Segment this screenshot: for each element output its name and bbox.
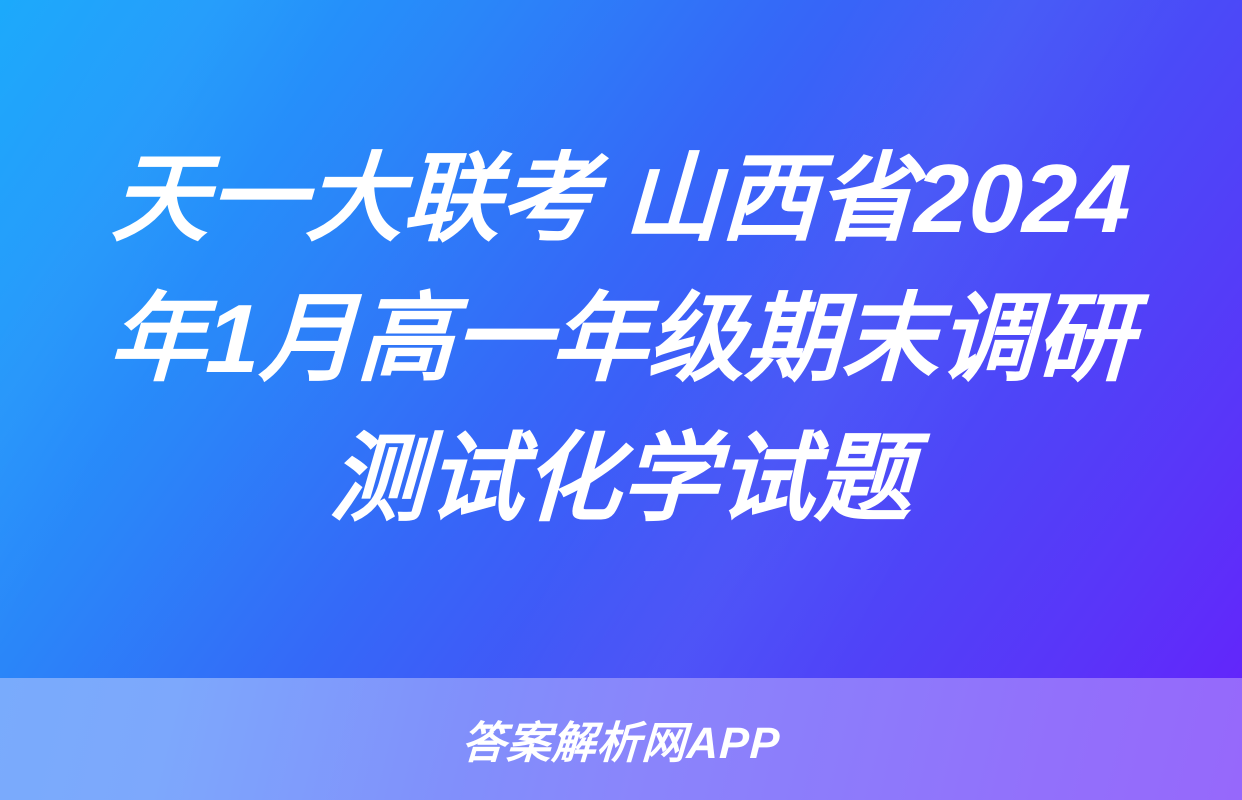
page-title-line-2: 年1月高一年级期末调研 [107,269,1136,409]
page-title: 天一大联考 山西省2024 年1月高一年级期末调研 测试化学试题 [0,0,1242,678]
footer-brand-band: 答案解析网APP [0,678,1242,800]
footer-brand-label: 答案解析网APP [460,707,782,771]
exam-paper-cover-poster: 天一大联考 山西省2024 年1月高一年级期末调研 测试化学试题 答案解析网AP… [0,0,1242,800]
page-title-line-3: 测试化学试题 [328,409,915,549]
page-title-line-1: 天一大联考 山西省2024 [109,129,1133,269]
